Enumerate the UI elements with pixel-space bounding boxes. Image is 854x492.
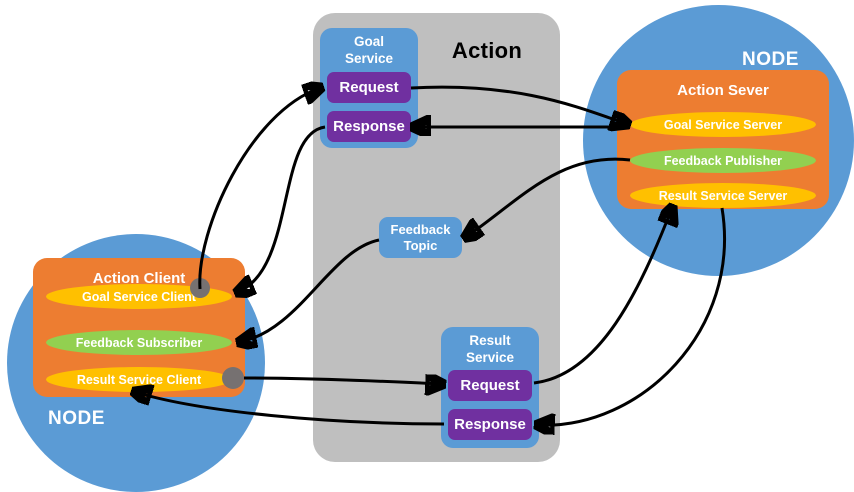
goal-service-response-button[interactable]: Response xyxy=(327,111,411,142)
result-client-connector-dot xyxy=(222,367,244,389)
action-server-title: Action Sever xyxy=(617,82,829,102)
goal-service-title: Goal Service xyxy=(320,33,418,69)
goal-service-server-pill[interactable]: Goal Service Server xyxy=(630,112,816,137)
result-service-title-line2: Service xyxy=(441,349,539,366)
feedback-topic-line2: Topic xyxy=(391,238,451,254)
feedback-topic-line1: Feedback xyxy=(391,222,451,238)
diagram-canvas: Action NODE Action Sever Goal Service Se… xyxy=(0,0,854,480)
feedback-publisher-pill[interactable]: Feedback Publisher xyxy=(630,148,816,173)
goal-client-connector-dot xyxy=(190,278,210,298)
result-service-title-line1: Result xyxy=(441,332,539,349)
feedback-topic-box[interactable]: Feedback Topic xyxy=(379,217,462,258)
goal-service-title-line1: Goal xyxy=(320,33,418,50)
result-service-request-button[interactable]: Request xyxy=(448,370,532,401)
feedback-subscriber-pill[interactable]: Feedback Subscriber xyxy=(46,330,232,355)
goal-service-title-line2: Service xyxy=(320,50,418,67)
result-service-server-pill[interactable]: Result Service Server xyxy=(630,183,816,208)
action-panel-title: Action xyxy=(432,36,542,66)
result-service-response-button[interactable]: Response xyxy=(448,409,532,440)
result-service-client-pill[interactable]: Result Service Client xyxy=(46,367,232,392)
goal-service-request-button[interactable]: Request xyxy=(327,72,411,103)
result-service-title: Result Service xyxy=(441,332,539,368)
arrow-goal-response-to-goal-client xyxy=(238,127,325,292)
node-left-label: NODE xyxy=(48,408,138,432)
